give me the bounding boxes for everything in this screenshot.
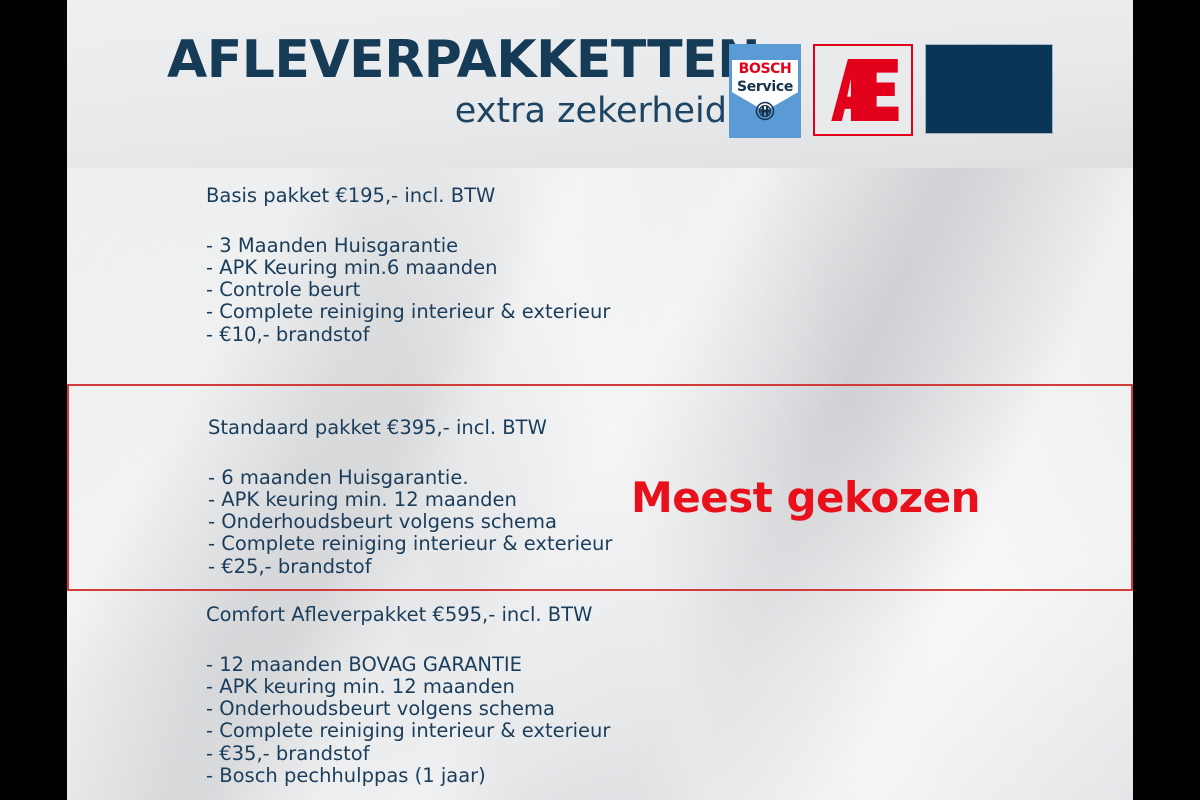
package-feature-list: - 12 maanden BOVAG GARANTIE - APK keurin…: [206, 654, 826, 788]
package-feature-list: - 3 Maanden Huisgarantie - APK Keuring m…: [206, 235, 826, 346]
package-feature: - 3 Maanden Huisgarantie: [206, 235, 826, 257]
package-heading: Basis pakket €195,- incl. BTW: [206, 186, 826, 206]
status-badge-most-chosen: Meest gekozen: [631, 473, 980, 522]
package-feature: - Bosch pechhulppas (1 jaar): [206, 765, 826, 787]
package-heading: Comfort Afleverpakket €595,- incl. BTW: [206, 605, 826, 625]
package-standaard: Standaard pakket €395,- incl. BTW - 6 ma…: [67, 384, 1133, 591]
package-feature: - 12 maanden BOVAG GARANTIE: [206, 654, 826, 676]
package-feature: - €10,- brandstof: [206, 324, 826, 346]
package-feature: - Complete reiniging interieur & exterie…: [206, 301, 826, 323]
letterbox-bar-right: [1133, 0, 1200, 800]
letterbox-bar-left: [0, 0, 67, 800]
package-feature: - APK keuring min. 12 maanden: [206, 676, 826, 698]
poster-root: AFLEVERPAKKETTEN extra zekerheid BOSCH S…: [0, 0, 1200, 800]
page-title: AFLEVERPAKKETTEN: [167, 34, 727, 86]
package-list: Basis pakket €195,- incl. BTW - 3 Maande…: [67, 168, 1133, 800]
title-block: AFLEVERPAKKETTEN extra zekerheid: [167, 34, 727, 129]
page-subtitle: extra zekerheid: [167, 94, 727, 129]
ae-monogram-icon: [825, 59, 901, 121]
navy-logo-plate: [925, 44, 1053, 134]
package-feature: - Controle beurt: [206, 279, 826, 301]
poster-header: AFLEVERPAKKETTEN extra zekerheid BOSCH S…: [67, 0, 1133, 168]
package-heading: Standaard pakket €395,- incl. BTW: [208, 418, 828, 438]
package-feature: - APK Keuring min.6 maanden: [206, 257, 826, 279]
package-feature: - €25,- brandstof: [208, 556, 828, 578]
package-basis: Basis pakket €195,- incl. BTW - 3 Maande…: [67, 168, 1133, 384]
ae-logo: [813, 44, 913, 136]
bosch-top-band-icon: [732, 47, 798, 60]
bosch-service-wordmark: Service: [732, 79, 798, 95]
logo-strip: BOSCH Service: [729, 44, 1053, 142]
bosch-service-logo: BOSCH Service: [729, 44, 801, 138]
package-feature: - Onderhoudsbeurt volgens schema: [206, 698, 826, 720]
package-feature: - €35,- brandstof: [206, 743, 826, 765]
poster-canvas: AFLEVERPAKKETTEN extra zekerheid BOSCH S…: [67, 0, 1133, 800]
bosch-armature-icon: [755, 101, 775, 121]
package-feature: - Complete reiniging interieur & exterie…: [208, 533, 828, 555]
package-comfort: Comfort Afleverpakket €595,- incl. BTW -…: [67, 591, 1133, 800]
package-feature: - Complete reiniging interieur & exterie…: [206, 720, 826, 742]
bosch-wordmark: BOSCH: [732, 61, 798, 77]
